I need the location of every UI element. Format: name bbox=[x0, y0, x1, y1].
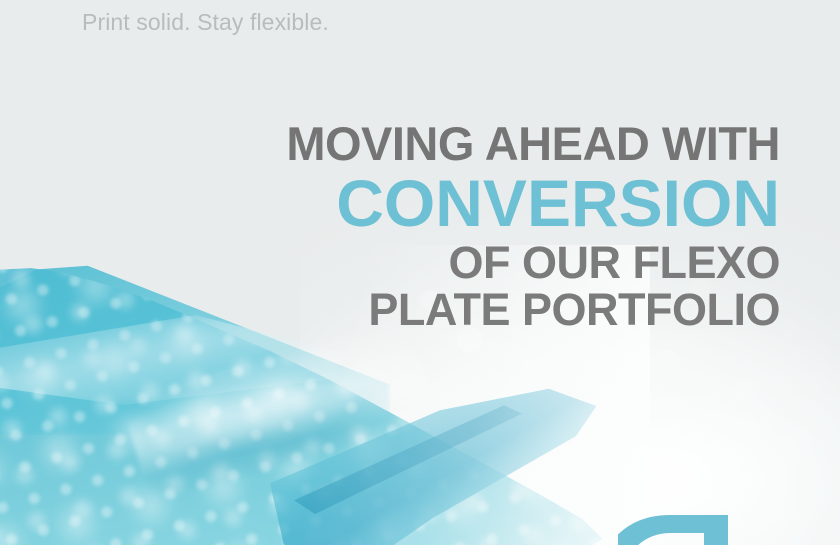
brand-logo-icon bbox=[618, 512, 838, 545]
headline-line-4: PLATE PORTFOLIO bbox=[286, 287, 780, 332]
headline-block: MOVING AHEAD WITH CONVERSION OF OUR FLEX… bbox=[286, 120, 780, 332]
brand-logo-mark bbox=[618, 512, 838, 545]
slide-canvas: Print solid. Stay flexible. MOVING AHEAD… bbox=[0, 0, 840, 545]
headline-line-2-accent: CONVERSION bbox=[286, 170, 780, 236]
headline-line-3: OF OUR FLEXO bbox=[286, 240, 780, 285]
headline-line-1: MOVING AHEAD WITH bbox=[286, 120, 780, 167]
tagline: Print solid. Stay flexible. bbox=[82, 9, 329, 36]
